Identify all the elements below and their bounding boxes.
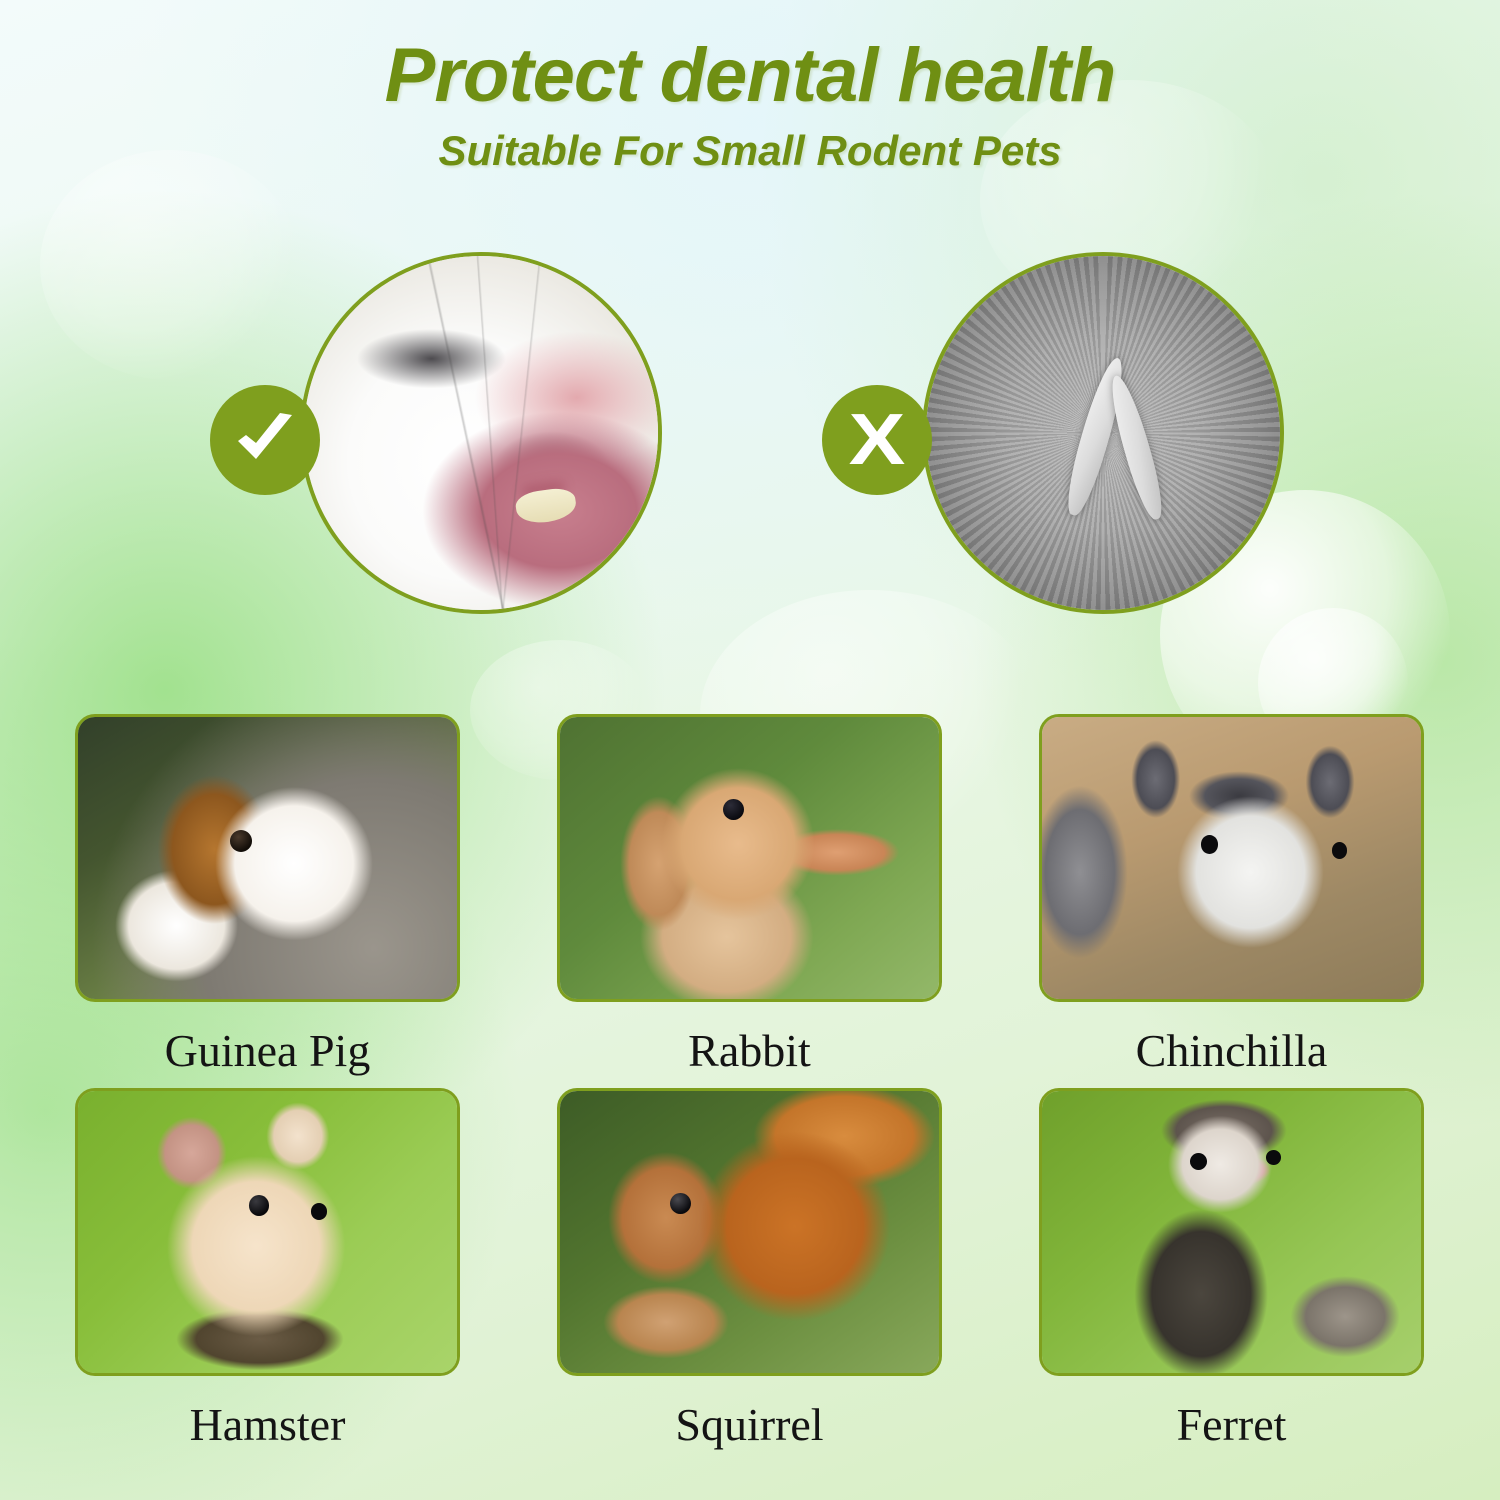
hamster-art bbox=[78, 1091, 457, 1373]
pet-card-hamster: Hamster bbox=[75, 1088, 460, 1448]
pet-label-squirrel: Squirrel bbox=[557, 1402, 942, 1448]
bokeh-light-4 bbox=[40, 150, 300, 380]
rabbit-open-mouth-art bbox=[304, 256, 658, 610]
pet-label-ferret: Ferret bbox=[1039, 1402, 1424, 1448]
pet-label-hamster: Hamster bbox=[75, 1402, 460, 1448]
cross-glyph-label: X bbox=[849, 404, 906, 476]
pet-photo-guinea-pig bbox=[75, 714, 460, 1002]
chinchilla-art bbox=[1042, 717, 1421, 999]
pet-photo-chinchilla bbox=[1039, 714, 1424, 1002]
pet-label-rabbit: Rabbit bbox=[557, 1028, 942, 1074]
page-subtitle: Suitable For Small Rodent Pets bbox=[0, 130, 1500, 172]
pet-photo-rabbit bbox=[557, 714, 942, 1002]
pet-photo-ferret bbox=[1039, 1088, 1424, 1376]
header-block: Protect dental health Suitable For Small… bbox=[0, 38, 1500, 172]
healthy-teeth-photo bbox=[300, 252, 662, 614]
ferret-art bbox=[1042, 1091, 1421, 1373]
pet-grid: Guinea Pig Rabbit Chinchilla Hamster Squ… bbox=[75, 714, 1425, 1448]
pet-card-guinea-pig: Guinea Pig bbox=[75, 714, 460, 1074]
pet-label-chinchilla: Chinchilla bbox=[1039, 1028, 1424, 1074]
check-icon bbox=[210, 385, 320, 495]
pet-card-ferret: Ferret bbox=[1039, 1088, 1424, 1448]
cross-icon: X bbox=[822, 385, 932, 495]
overgrown-teeth-photo bbox=[922, 252, 1284, 614]
squirrel-art bbox=[560, 1091, 939, 1373]
overgrown-incisors-art bbox=[926, 256, 1280, 610]
pet-photo-hamster bbox=[75, 1088, 460, 1376]
page-title: Protect dental health bbox=[0, 38, 1500, 114]
pet-card-rabbit: Rabbit bbox=[557, 714, 942, 1074]
pet-photo-squirrel bbox=[557, 1088, 942, 1376]
whiskers-overlay bbox=[304, 256, 658, 610]
pet-card-chinchilla: Chinchilla bbox=[1039, 714, 1424, 1074]
guinea-pig-art bbox=[78, 717, 457, 999]
pet-card-squirrel: Squirrel bbox=[557, 1088, 942, 1448]
pet-label-guinea-pig: Guinea Pig bbox=[75, 1028, 460, 1074]
rabbit-art bbox=[560, 717, 939, 999]
